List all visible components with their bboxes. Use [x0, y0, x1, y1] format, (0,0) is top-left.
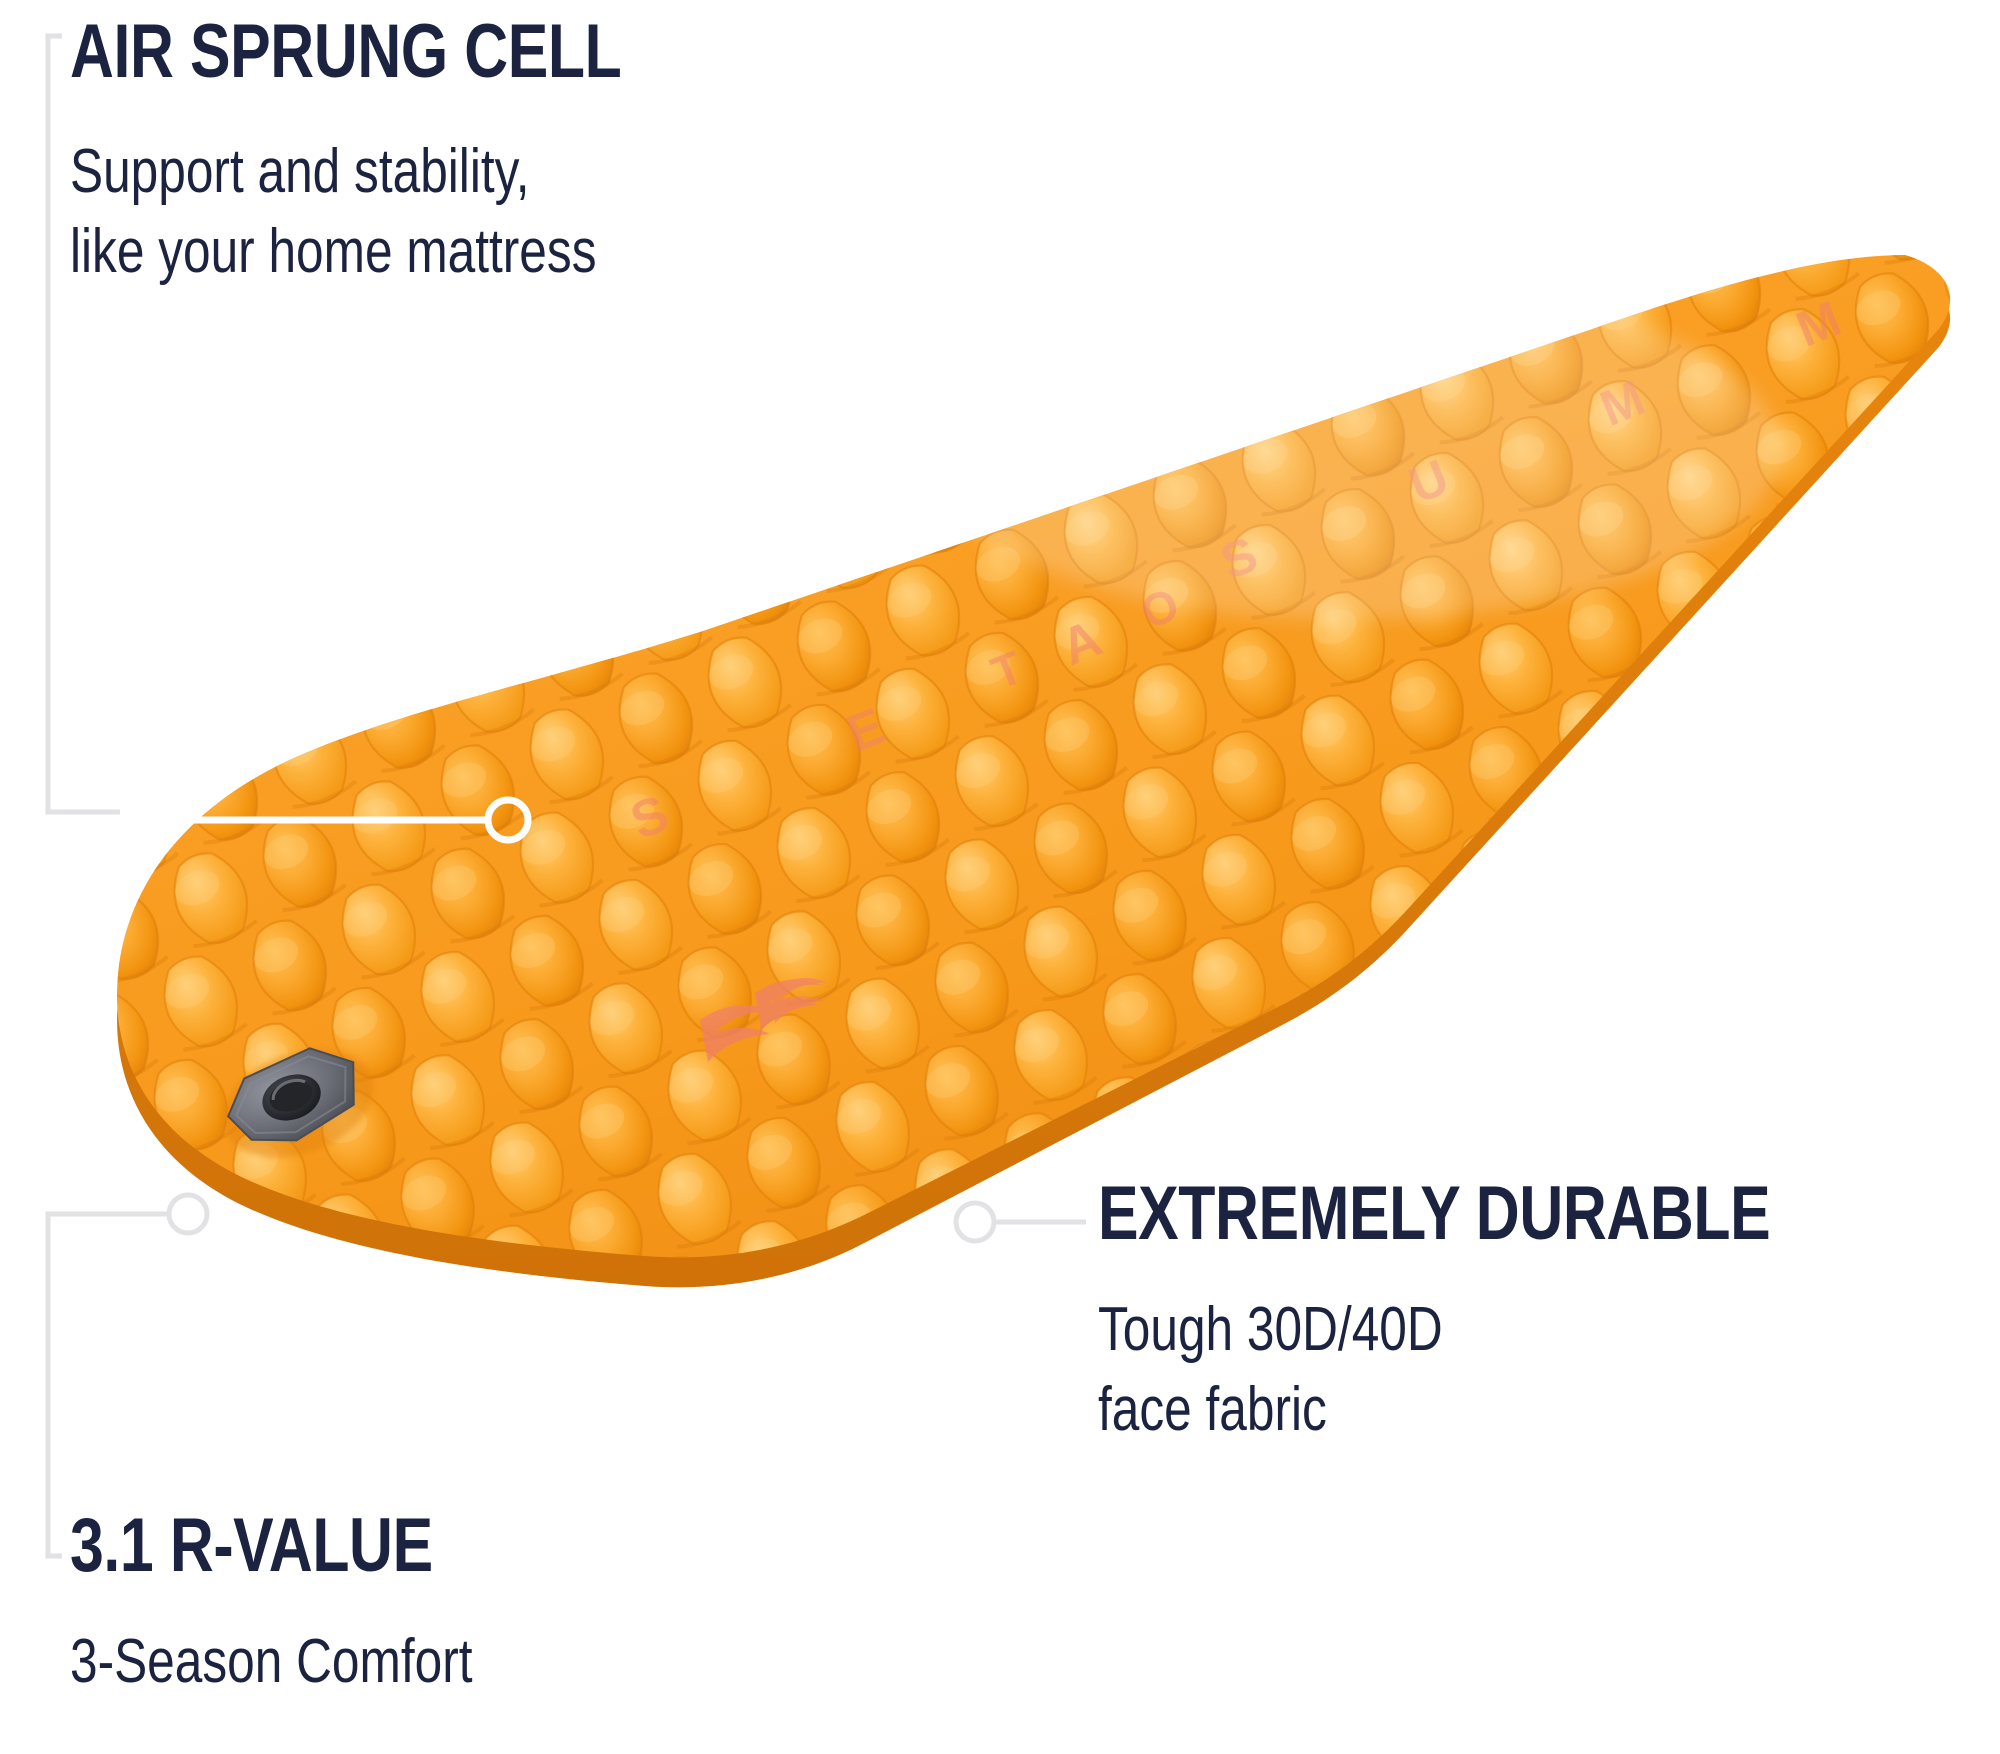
callout-extremely-durable: EXTREMELY DURABLE Tough 30D/40D face fab…: [1098, 1176, 1938, 1447]
callout-headline-extremely-durable: EXTREMELY DURABLE: [1098, 1176, 1770, 1252]
callout-headline-air-sprung-cell: AIR SPRUNG CELL: [70, 14, 621, 90]
callout-sub-line1-extremely-durable: Tough 30D/40D: [1098, 1292, 1770, 1368]
callout-headline-r-value: 3.1 R-VALUE: [70, 1508, 473, 1584]
callout-sub-line1-air-sprung-cell: Support and stability,: [70, 134, 621, 210]
mat-highlight: [920, 280, 1780, 620]
callout-air-sprung-cell: AIR SPRUNG CELL Support and stability, l…: [70, 14, 759, 289]
callout-sub-line1-r-value: 3-Season Comfort: [70, 1624, 473, 1700]
callout-sub-line2-air-sprung-cell: like your home mattress: [70, 214, 621, 290]
callout-sub-line2-extremely-durable: face fabric: [1098, 1372, 1770, 1448]
callout-r-value: 3.1 R-VALUE 3-Season Comfort: [70, 1508, 573, 1700]
infographic-canvas: S E A T O S U M M I T: [0, 0, 2000, 1754]
